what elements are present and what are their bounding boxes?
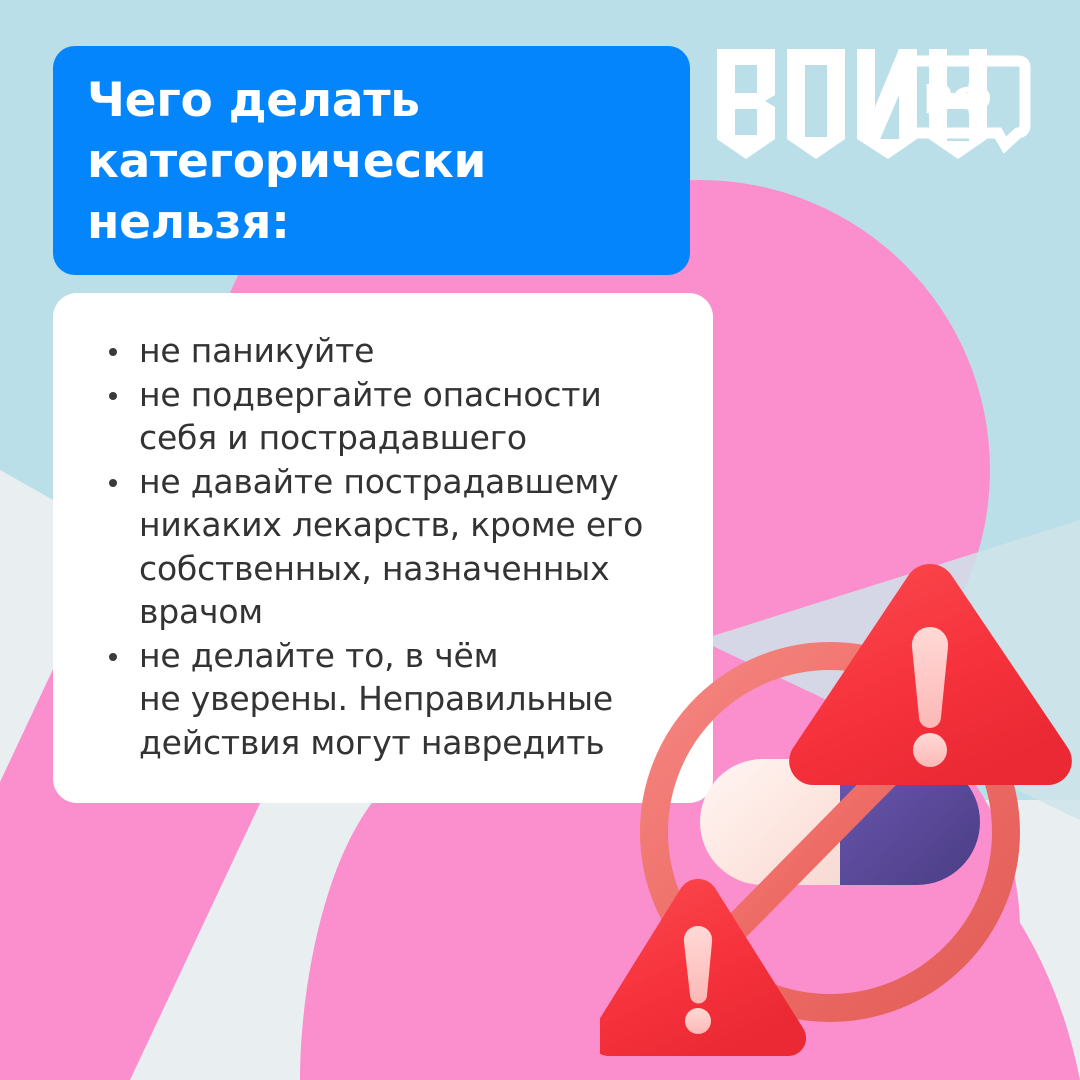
rf-letters-icon: РФ	[923, 77, 992, 123]
warning-triangle-top-icon	[789, 564, 1072, 785]
brand-logo[interactable]: РФ	[713, 47, 1038, 162]
list-item: не паникуйте	[99, 329, 683, 373]
list-item: не делайте то, в чём не уверены. Неправи…	[99, 634, 683, 765]
prohibition-list: не паникуйте не подвергайте опасности се…	[99, 329, 683, 764]
list-item: не подвергайте опасности себя и пострада…	[99, 373, 683, 460]
no-medication-illustration	[600, 552, 1080, 1080]
title-banner: Чего делать категорически нельзя:	[53, 46, 690, 275]
page-title: Чего делать категорически нельзя:	[87, 70, 486, 253]
list-item: не давайте пострадавшему никаких лекарст…	[99, 460, 683, 634]
svg-text:РФ: РФ	[923, 77, 992, 123]
